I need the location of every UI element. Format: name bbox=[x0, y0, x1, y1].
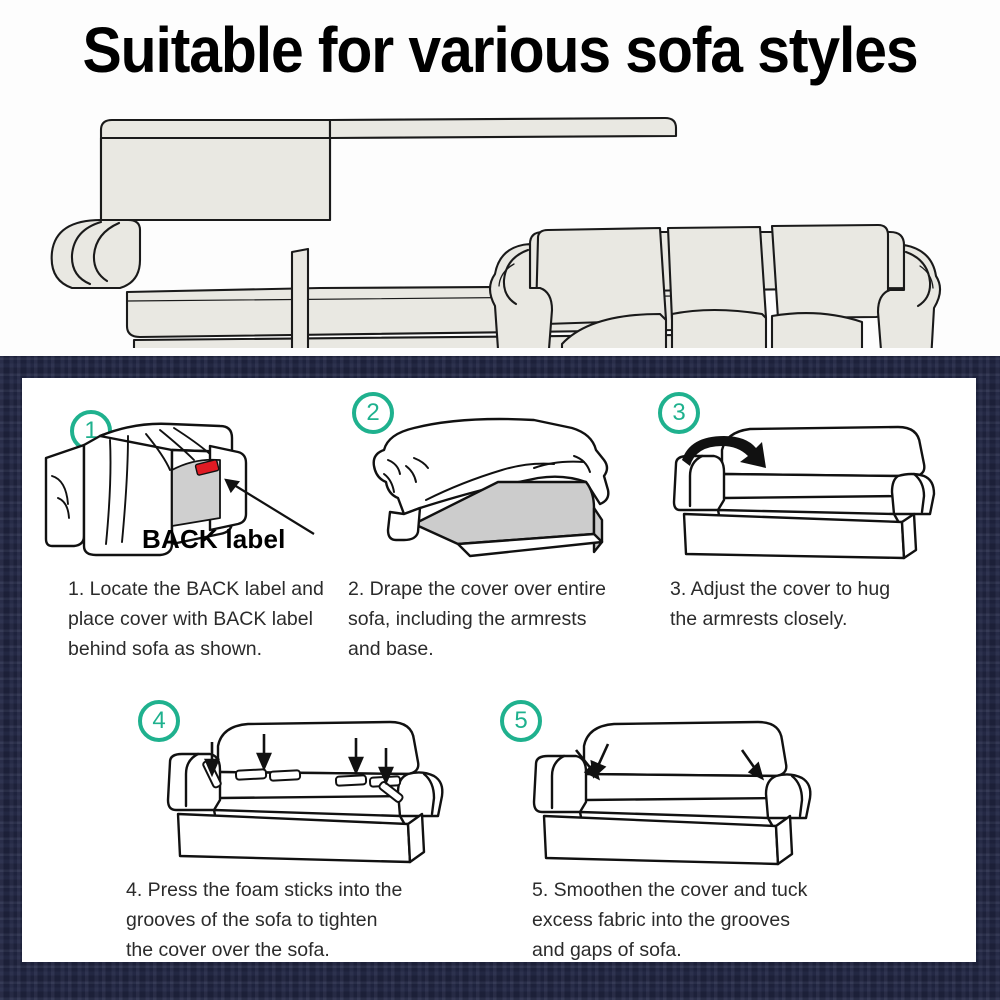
page-title: Suitable for various sofa styles bbox=[40, 14, 960, 86]
step-caption-5: 5. Smoothen the cover and tuck excess fa… bbox=[532, 875, 872, 965]
back-label-annotation: BACK label bbox=[142, 524, 286, 555]
instruction-step-2: 2 bbox=[340, 378, 658, 688]
instruction-step-1: 1 bbox=[22, 378, 340, 688]
sofa-smoothen-tuck-icon bbox=[526, 712, 826, 872]
step-caption-2: 2. Drape the cover over entire sofa, inc… bbox=[348, 574, 648, 664]
hero-sofa-illustration bbox=[0, 92, 1000, 348]
step-caption-4: 4. Press the foam sticks into the groove… bbox=[126, 875, 466, 965]
instruction-steps-row-top: 1 bbox=[22, 378, 976, 688]
instruction-step-5: 5 bbox=[500, 690, 880, 960]
instruction-steps-row-bottom: 4 bbox=[120, 690, 880, 960]
step-caption-3: 3. Adjust the cover to hug the armrests … bbox=[670, 574, 960, 634]
instruction-step-4: 4 bbox=[120, 690, 500, 960]
sofa-drape-cover-icon bbox=[358, 416, 648, 566]
step-caption-1: 1. Locate the BACK label and place cover… bbox=[68, 574, 348, 664]
page-root: Suitable for various sofa styles bbox=[0, 0, 1000, 1000]
sofa-foam-sticks-icon bbox=[160, 712, 460, 872]
sofa-adjust-armrest-icon bbox=[662, 418, 952, 568]
instruction-step-3: 3 bbox=[658, 378, 976, 688]
